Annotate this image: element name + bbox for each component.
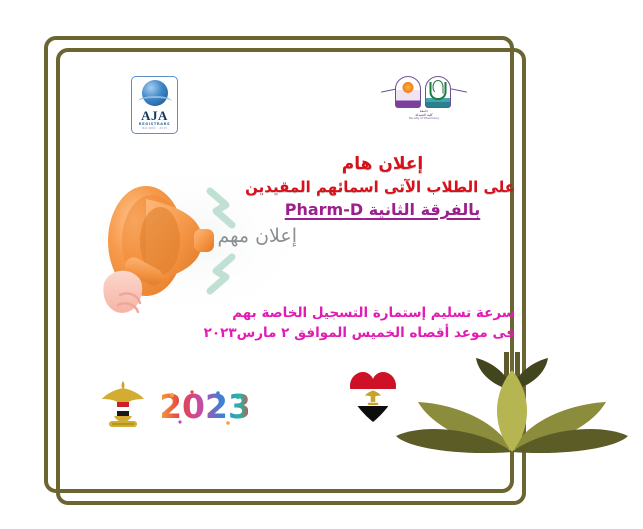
- pharmacy-snake-bowl-icon: [425, 76, 451, 108]
- headline-line-1: إعلان هام: [250, 152, 515, 176]
- faculty-logo-caption: جامعة كلية الصيدلة Faculty of Pharmacy: [381, 110, 467, 121]
- headline-line-2: على الطلاب الآتى اسمائهم المقيدين: [250, 176, 515, 198]
- announcement-poster: AJA REGISTRARS ISO 9001 : 2015 جامعة كلي…: [0, 0, 643, 529]
- university-crest-icon: [395, 76, 421, 108]
- aja-logo-card: AJA REGISTRARS ISO 9001 : 2015: [131, 76, 178, 134]
- aja-logo: AJA REGISTRARS ISO 9001 : 2015: [131, 76, 178, 134]
- aja-logo-tagline: ISO 9001 : 2015: [142, 127, 168, 130]
- megaphone-caption: إعلان مهم: [217, 225, 297, 247]
- faculty-caption-line3: Faculty of Pharmacy: [381, 117, 467, 121]
- body-line-2: فى موعد أقصاه الخميس الموافق ٢ مارس٢٠٢٣: [250, 323, 515, 343]
- aja-logo-name: AJA: [141, 109, 168, 122]
- year-2023-graphic: 2023: [162, 385, 248, 427]
- crest-wing-right: [451, 88, 467, 92]
- egypt-flag-heart-icon: [350, 372, 396, 424]
- year-2023-label: 2023: [162, 387, 248, 426]
- body-block: سرعة تسليم إستمارة التسجيل الخاصة بهم فى…: [250, 303, 515, 343]
- body-line-1: سرعة تسليم إستمارة التسجيل الخاصة بهم: [250, 303, 515, 323]
- crest-pair: [395, 76, 451, 108]
- headline-line-3: بالفرقة الثانية Pharm-D: [250, 198, 515, 222]
- globe-icon: [142, 80, 168, 106]
- egypt-eagle-of-saladin-icon: [100, 378, 146, 432]
- headline-block: إعلان هام على الطلاب الآتى اسمائهم المقي…: [250, 152, 515, 222]
- faculty-logo: جامعة كلية الصيدلة Faculty of Pharmacy: [381, 76, 467, 128]
- lotus-flower-icon: [396, 352, 643, 487]
